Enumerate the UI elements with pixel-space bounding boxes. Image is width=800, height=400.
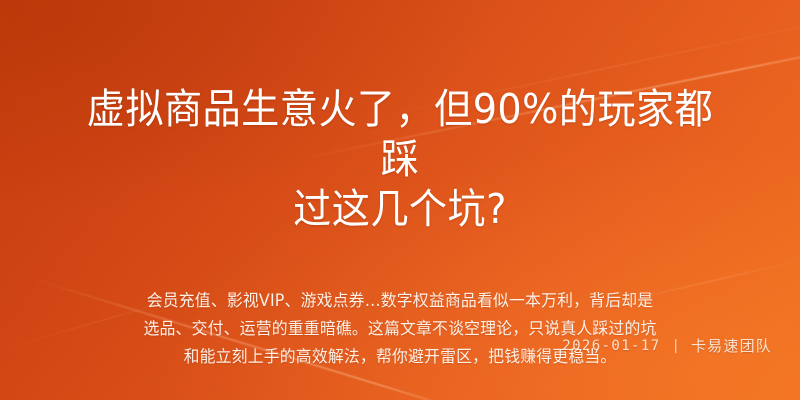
promo-banner: 虚拟商品生意火了，但90%的玩家都踩 过这几个坑? 会员充值、影视VIP、游戏点…	[0, 0, 800, 400]
subcopy-line-1: 会员充值、影视VIP、游戏点券…数字权益商品看似一本万利，背后却是	[78, 287, 721, 315]
subcopy-block: 会员充值、影视VIP、游戏点券…数字权益商品看似一本万利，背后却是 选品、交付、…	[78, 287, 721, 371]
subcopy-line-2: 选品、交付、运营的重重暗礁。这篇文章不谈空理论，只说真人踩过的坑	[78, 315, 721, 343]
banner-content: 虚拟商品生意火了，但90%的玩家都踩 过这几个坑? 会员充值、影视VIP、游戏点…	[0, 0, 800, 400]
subcopy-line-3: 和能立刻上手的高效解法，帮你避开雷区，把钱赚得更稳当。	[78, 343, 721, 371]
headline-title: 虚拟商品生意火了，但90%的玩家都踩 过这几个坑?	[75, 84, 726, 234]
